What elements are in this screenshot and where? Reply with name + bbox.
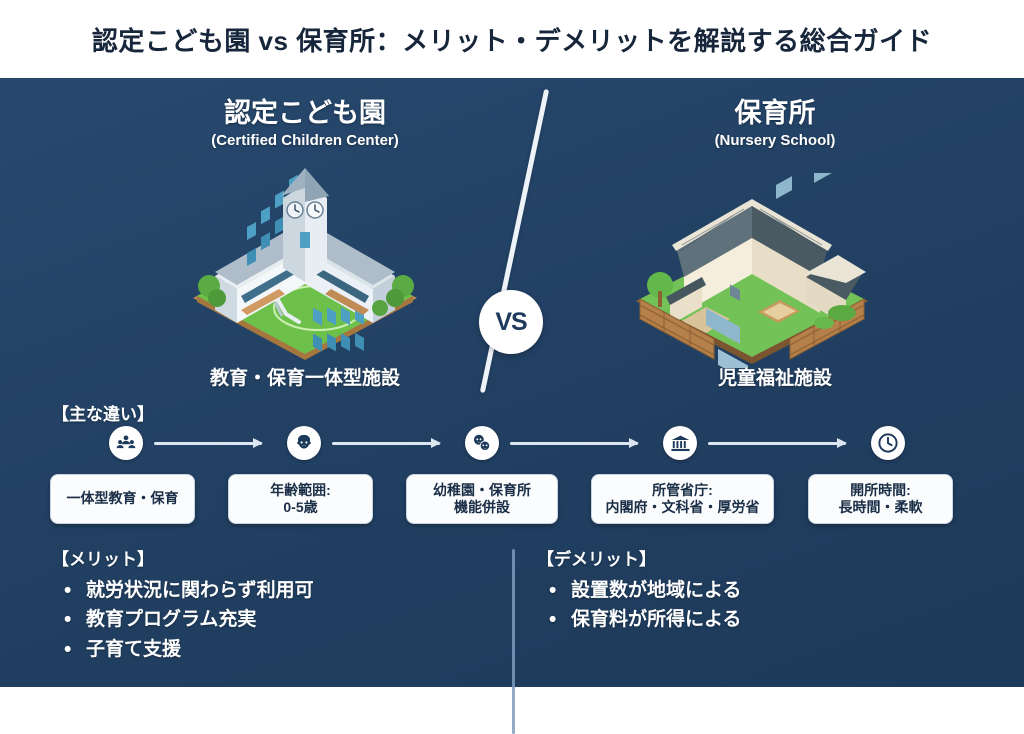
header-bar: 認定こども園 vs 保育所：メリット・デメリットを解説する総合ガイド (0, 0, 1024, 78)
left-caption: 教育・保育一体型施設 (160, 363, 450, 390)
left-title-jp: 認定こども園 (160, 98, 450, 129)
flow-box-4: 所管省庁: 内閣府・文科省・厚労省 (591, 474, 774, 524)
flow-box-1-line1: 一体型教育・保育 (67, 490, 179, 508)
flow-box-1: 一体型教育・保育 (50, 474, 195, 524)
flow-box-4-line2: 内閣府・文科省・厚労省 (606, 499, 760, 517)
flow-arrow-1 (154, 442, 262, 445)
flow-box-3: 幼稚園・保育所 機能併設 (406, 474, 558, 524)
flow-box-5-line1: 開所時間: (839, 482, 923, 500)
page-title: 認定こども園 vs 保育所：メリット・デメリットを解説する総合ガイド (92, 21, 932, 58)
clock-icon (871, 426, 905, 460)
japanese-house-icon (610, 173, 895, 368)
differences-label: 【主な違い】 (52, 400, 154, 425)
flow-box-3-line2: 機能併設 (433, 499, 531, 517)
list-item: 保育料が所得による (547, 605, 741, 634)
left-title-en: (Certified Children Center) (160, 132, 450, 149)
flow-box-5-line2: 長時間・柔軟 (839, 499, 923, 517)
flow-box-5: 開所時間: 長時間・柔軟 (808, 474, 953, 524)
flow-icon-row (50, 426, 980, 466)
right-title-jp: 保育所 (640, 98, 910, 129)
flow-box-2-line1: 年齢範囲: (270, 482, 331, 500)
group-people-icon (109, 426, 143, 460)
differences-flow: 一体型教育・保育 年齢範囲: 0-5歳 幼稚園・保育所 機能併設 所管省庁: (50, 426, 980, 536)
flow-box-4-line1: 所管省庁: (606, 482, 760, 500)
flow-box-2-line2: 0-5歳 (270, 499, 331, 517)
right-title-en: (Nursery School) (640, 132, 910, 149)
column-divider (512, 549, 515, 734)
demerits-label: 【デメリット】 (537, 545, 656, 570)
government-building-icon (663, 426, 697, 460)
vs-badge: VS (479, 290, 543, 354)
content-board: 認定こども園 (Certified Children Center) 保育所 (… (0, 78, 1024, 687)
nursery-school-illustration (610, 173, 895, 368)
merits-label: 【メリット】 (52, 545, 154, 570)
flow-box-3-line1: 幼稚園・保育所 (433, 482, 531, 500)
flow-arrow-4 (708, 442, 846, 445)
flow-arrow-2 (332, 442, 440, 445)
certified-children-center-illustration (155, 158, 455, 368)
list-item: 教育プログラム充実 (62, 605, 314, 634)
list-item: 設置数が地域による (547, 576, 741, 605)
flow-box-2: 年齢範囲: 0-5歳 (228, 474, 373, 524)
left-heading: 認定こども園 (Certified Children Center) (160, 98, 450, 149)
list-item: 子育て支援 (62, 635, 314, 664)
list-item: 就労状況に関わらず利用可 (62, 576, 314, 605)
two-children-icon (465, 426, 499, 460)
child-face-icon (287, 426, 321, 460)
right-caption: 児童福祉施設 (640, 363, 910, 390)
merits-list: 就労状況に関わらず利用可 教育プログラム充実 子育て支援 (62, 576, 314, 664)
flow-arrow-3 (510, 442, 638, 445)
right-heading: 保育所 (Nursery School) (640, 98, 910, 149)
school-building-icon (155, 158, 455, 368)
demerits-list: 設置数が地域による 保育料が所得による (547, 576, 741, 635)
infographic-root: 認定こども園 vs 保育所：メリット・デメリットを解説する総合ガイド 認定こども… (0, 0, 1024, 687)
